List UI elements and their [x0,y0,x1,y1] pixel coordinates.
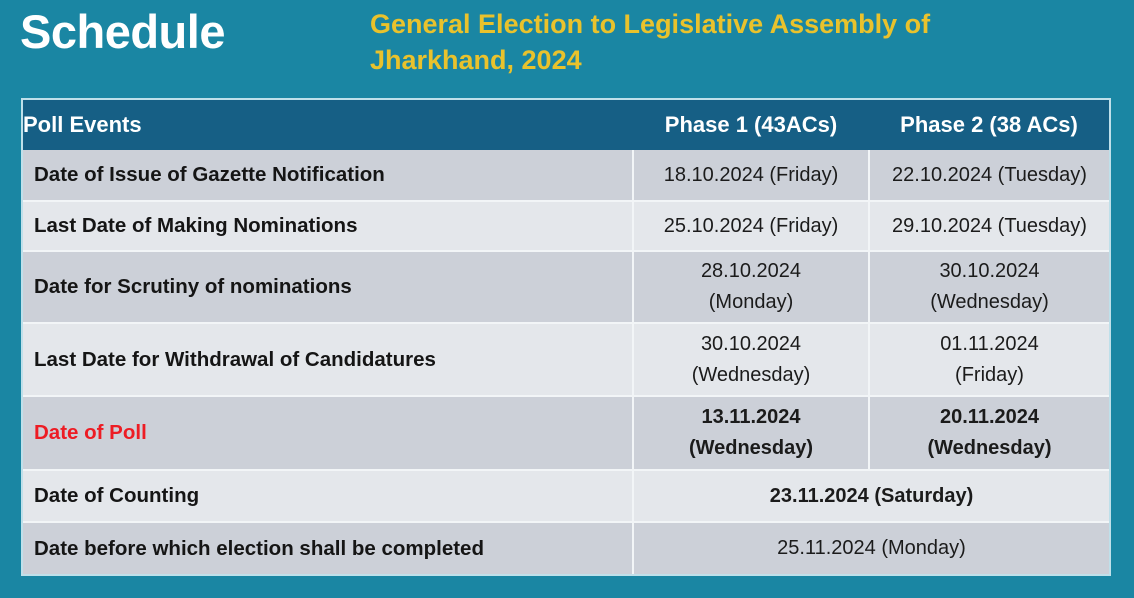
cell-phase2-day: (Wednesday) [874,433,1105,464]
table-row-completion-date: Date before which election shall be comp… [23,522,1109,574]
column-header-phase-1: Phase 1 (43ACs) [633,100,869,150]
cell-phase1: 13.11.2024 (Wednesday) [633,396,869,470]
cell-event: Date of Poll [23,396,633,470]
cell-phase1-day: (Wednesday) [638,360,864,391]
table-row: Date for Scrutiny of nominations 28.10.2… [23,251,1109,323]
cell-event: Last Date of Making Nominations [23,201,633,251]
cell-event: Date of Issue of Gazette Notification [23,150,633,201]
page-title: Schedule [20,4,225,60]
cell-phase1-date: 18.10.2024 (Friday) [664,164,839,186]
cell-merged-date: 23.11.2024 (Saturday) [770,485,973,507]
cell-merged-date: 25.11.2024 (Monday) [777,537,966,559]
slide-root: Schedule General Election to Legislative… [0,0,1134,598]
cell-phase2: 20.11.2024 (Wednesday) [869,396,1109,470]
column-header-phase-2: Phase 2 (38 ACs) [869,100,1109,150]
cell-phase2-date: 20.11.2024 [874,402,1105,433]
table-body: Date of Issue of Gazette Notification 18… [23,150,1109,574]
cell-event: Date before which election shall be comp… [23,522,633,574]
cell-phase1-date: 25.10.2024 (Friday) [664,215,839,237]
deck-subtitle: General Election to Legislative Assembly… [370,6,1070,78]
cell-phase2-date: 22.10.2024 (Tuesday) [892,164,1087,186]
table-head: Poll Events Phase 1 (43ACs) Phase 2 (38 … [23,100,1109,150]
table-row: Last Date of Making Nominations 25.10.20… [23,201,1109,251]
cell-phase1-date: 30.10.2024 [638,329,864,360]
table-row: Last Date for Withdrawal of Candidatures… [23,323,1109,396]
table-row: Date of Issue of Gazette Notification 18… [23,150,1109,201]
slide-header: Schedule General Election to Legislative… [0,0,1134,92]
cell-phase2-day: (Wednesday) [874,287,1105,318]
cell-phase2-date: 29.10.2024 (Tuesday) [892,215,1087,237]
cell-event: Date of Counting [23,470,633,522]
cell-phase2: 30.10.2024 (Wednesday) [869,251,1109,323]
schedule-table: Poll Events Phase 1 (43ACs) Phase 2 (38 … [23,100,1109,574]
cell-phase1: 18.10.2024 (Friday) [633,150,869,201]
cell-phase1-date: 28.10.2024 [638,256,864,287]
cell-merged-value: 23.11.2024 (Saturday) [633,470,1109,522]
table-row-date-of-counting: Date of Counting 23.11.2024 (Saturday) [23,470,1109,522]
cell-phase1: 28.10.2024 (Monday) [633,251,869,323]
table-header-row: Poll Events Phase 1 (43ACs) Phase 2 (38 … [23,100,1109,150]
cell-phase1-day: (Monday) [638,287,864,318]
cell-phase2: 01.11.2024 (Friday) [869,323,1109,396]
cell-phase2: 22.10.2024 (Tuesday) [869,150,1109,201]
cell-merged-value: 25.11.2024 (Monday) [633,522,1109,574]
cell-phase2-day: (Friday) [874,360,1105,391]
schedule-table-container: Poll Events Phase 1 (43ACs) Phase 2 (38 … [21,98,1111,576]
cell-phase1-day: (Wednesday) [638,433,864,464]
table-row-date-of-poll: Date of Poll 13.11.2024 (Wednesday) 20.1… [23,396,1109,470]
cell-phase2-date: 30.10.2024 [874,256,1105,287]
cell-phase2: 29.10.2024 (Tuesday) [869,201,1109,251]
cell-phase1: 25.10.2024 (Friday) [633,201,869,251]
column-header-poll-events: Poll Events [23,100,633,150]
cell-phase1: 30.10.2024 (Wednesday) [633,323,869,396]
cell-event: Last Date for Withdrawal of Candidatures [23,323,633,396]
cell-phase2-date: 01.11.2024 [874,329,1105,360]
cell-phase1-date: 13.11.2024 [638,402,864,433]
cell-event: Date for Scrutiny of nominations [23,251,633,323]
